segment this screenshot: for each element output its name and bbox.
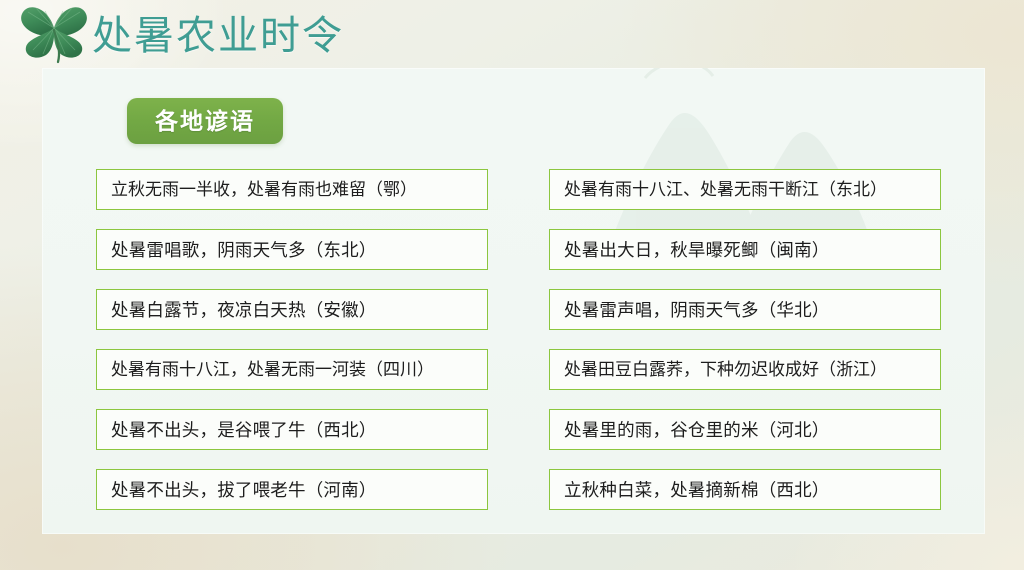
slide-canvas: 处暑农业时令 各地谚语 立秋无雨一半收，处暑有雨也难留（鄂） 处暑有雨	[0, 0, 1024, 570]
proverb-text: 处暑雷唱歌，阴雨天气多（东北）	[111, 239, 377, 261]
proverb-text: 处暑白露节，夜凉白天热（安徽）	[111, 299, 377, 321]
proverb-item[interactable]: 处暑不出头，拔了喂老牛（河南）	[96, 469, 488, 510]
section-badge: 各地谚语	[127, 98, 283, 144]
proverb-item[interactable]: 处暑田豆白露荞，下种勿迟收成好（浙江）	[549, 349, 941, 390]
proverb-text: 处暑有雨十八江，处暑无雨一河装（四川）	[111, 359, 434, 381]
proverb-text: 立秋无雨一半收，处暑有雨也难留（鄂）	[111, 179, 417, 201]
proverb-text: 处暑不出头，是谷喂了牛（西北）	[111, 419, 377, 441]
proverb-item[interactable]: 处暑有雨十八江、处暑无雨干断江（东北）	[549, 169, 941, 210]
content-panel: 各地谚语 立秋无雨一半收，处暑有雨也难留（鄂） 处暑有雨十八江、处暑无雨干断江（…	[42, 68, 985, 534]
proverb-item[interactable]: 立秋种白菜，处暑摘新棉（西北）	[549, 469, 941, 510]
clover-leaf-icon	[12, 2, 96, 66]
proverb-item[interactable]: 处暑雷唱歌，阴雨天气多（东北）	[96, 229, 488, 270]
proverb-text: 立秋种白菜，处暑摘新棉（西北）	[564, 479, 830, 501]
proverb-item[interactable]: 处暑出大日，秋旱曝死鲫（闽南）	[549, 229, 941, 270]
proverb-text: 处暑雷声唱，阴雨天气多（华北）	[564, 299, 830, 321]
section-badge-label: 各地谚语	[155, 108, 255, 134]
proverb-item[interactable]: 处暑白露节，夜凉白天热（安徽）	[96, 289, 488, 330]
proverb-item[interactable]: 处暑雷声唱，阴雨天气多（华北）	[549, 289, 941, 330]
slide-header: 处暑农业时令	[0, 0, 1024, 70]
proverb-grid: 立秋无雨一半收，处暑有雨也难留（鄂） 处暑有雨十八江、处暑无雨干断江（东北） 处…	[96, 169, 941, 510]
proverb-item[interactable]: 立秋无雨一半收，处暑有雨也难留（鄂）	[96, 169, 488, 210]
proverb-item[interactable]: 处暑不出头，是谷喂了牛（西北）	[96, 409, 488, 450]
proverb-item[interactable]: 处暑里的雨，谷仓里的米（河北）	[549, 409, 941, 450]
proverb-text: 处暑田豆白露荞，下种勿迟收成好（浙江）	[564, 359, 887, 381]
proverb-text: 处暑里的雨，谷仓里的米（河北）	[564, 419, 830, 441]
proverb-text: 处暑出大日，秋旱曝死鲫（闽南）	[564, 239, 830, 261]
proverb-text: 处暑有雨十八江、处暑无雨干断江（东北）	[564, 179, 887, 201]
proverb-text: 处暑不出头，拔了喂老牛（河南）	[111, 479, 377, 501]
proverb-item[interactable]: 处暑有雨十八江，处暑无雨一河装（四川）	[96, 349, 488, 390]
page-title: 处暑农业时令	[92, 11, 344, 61]
